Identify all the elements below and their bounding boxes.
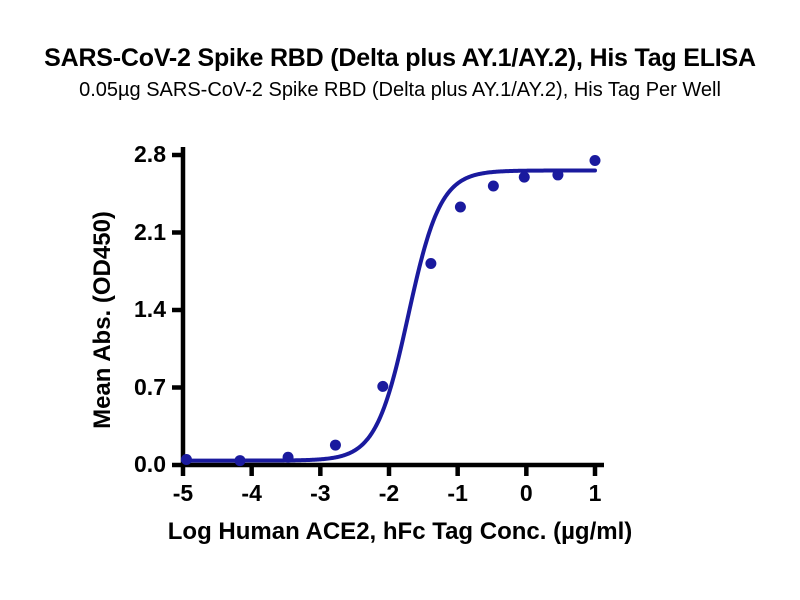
y-axis-title: Mean Abs. (OD450) (89, 205, 117, 435)
x-tick-label: -5 (163, 482, 203, 505)
data-point-marker (455, 202, 466, 213)
data-point-marker (283, 452, 294, 463)
fit-curve-path (183, 171, 595, 461)
x-tick-label: 0 (506, 482, 546, 505)
data-points (181, 155, 601, 466)
data-point-marker (519, 172, 530, 183)
axes-group (172, 147, 604, 476)
data-point-marker (377, 381, 388, 392)
y-tick-label: 0.0 (100, 453, 166, 476)
x-tick-label: -4 (232, 482, 272, 505)
elisa-chart-figure: SARS-CoV-2 Spike RBD (Delta plus AY.1/AY… (0, 0, 800, 600)
data-point-marker (330, 440, 341, 451)
data-point-marker (234, 455, 245, 466)
data-point-marker (590, 155, 601, 166)
fit-curve (183, 171, 595, 461)
x-tick-label: 1 (575, 482, 615, 505)
x-tick-label: -1 (438, 482, 478, 505)
plot-area: 0.00.71.42.12.8 -5-4-3-2-101 Mean Abs. (… (0, 0, 800, 600)
x-tick-label: -3 (300, 482, 340, 505)
y-tick-label: 2.8 (100, 143, 166, 166)
data-point-marker (488, 181, 499, 192)
data-point-marker (552, 169, 563, 180)
data-point-marker (425, 258, 436, 269)
x-tick-label: -2 (369, 482, 409, 505)
data-point-marker (181, 454, 192, 465)
x-axis-title: Log Human ACE2, hFc Tag Conc. (µg/ml) (0, 518, 800, 546)
